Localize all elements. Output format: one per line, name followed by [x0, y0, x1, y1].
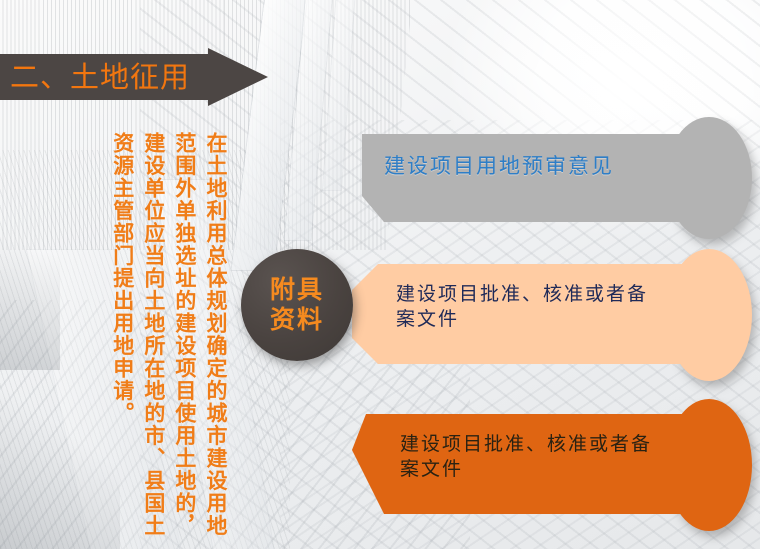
banner-label: 建设项目批准、核准或者备 案文件	[400, 432, 652, 482]
badge-line-1: 附具	[270, 275, 324, 305]
vertical-body-text: 在土地利用总体规划确定的城市建设用地范围外单独选址的建设项目使用土地的，建设单位…	[32, 132, 232, 542]
banner-approval-document-peach[interactable]: 建设项目批准、核准或者备 案文件	[352, 249, 752, 381]
banner-preliminary-review[interactable]: 建设项目用地预审意见	[362, 117, 752, 239]
banner-approval-document-orange[interactable]: 建设项目批准、核准或者备 案文件	[352, 399, 752, 531]
attachment-badge[interactable]: 附具 资料	[241, 249, 353, 361]
banner-label: 建设项目用地预审意见	[384, 153, 614, 181]
slide-canvas: 二、土地征用 在土地利用总体规划确定的城市建设用地范围外单独选址的建设项目使用土…	[0, 0, 760, 549]
page-title: 二、土地征用	[10, 53, 190, 101]
banner-label: 建设项目批准、核准或者备 案文件	[396, 282, 648, 332]
badge-line-2: 资料	[270, 305, 324, 335]
